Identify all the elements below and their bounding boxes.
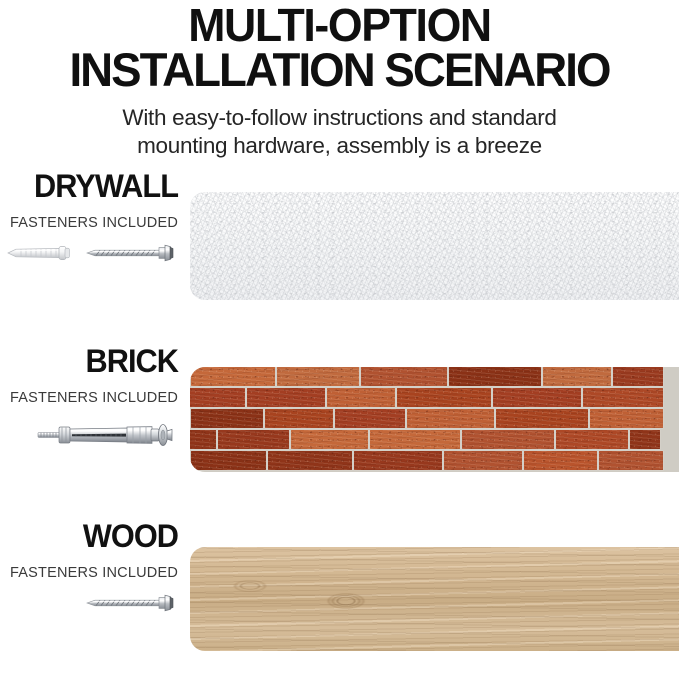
- fasteners-included-label-brick: FASTENERS INCLUDED: [0, 390, 178, 406]
- brick-unit: [246, 387, 326, 408]
- brick-unit: [523, 450, 598, 471]
- brick-labels: BRICK FASTENERS INCLUDED: [0, 345, 178, 452]
- drywall-screw-icon: [84, 243, 176, 263]
- material-name-drywall: DRYWALL: [7, 170, 178, 202]
- material-name-brick: BRICK: [7, 345, 178, 377]
- drywall-texture-swatch: [190, 192, 679, 300]
- brick-unit: [190, 450, 267, 471]
- brick-unit: [190, 387, 246, 408]
- brick-unit: [267, 450, 353, 471]
- brick-unit: [334, 408, 406, 429]
- brick-unit: [369, 429, 461, 450]
- brick-unit: [360, 367, 448, 387]
- plastic-wall-anchor-icon: [2, 243, 78, 263]
- material-row-drywall: DRYWALL FASTENERS INCLUDED: [0, 170, 679, 345]
- drywall-labels: DRYWALL FASTENERS INCLUDED: [0, 170, 178, 263]
- brick-unit: [443, 450, 523, 471]
- wood-fastener-group: [0, 593, 178, 613]
- brick-unit: [492, 387, 582, 408]
- page-title: MULTI-OPTION INSTALLATION SCENARIO: [10, 4, 669, 92]
- wood-texture-swatch: [190, 547, 679, 651]
- wood-labels: WOOD FASTENERS INCLUDED: [0, 520, 178, 613]
- brick-unit: [326, 387, 396, 408]
- brick-unit: [555, 429, 629, 450]
- brick-course: [190, 450, 679, 471]
- material-row-wood: WOOD FASTENERS INCLUDED: [0, 520, 679, 695]
- brick-unit: [406, 408, 495, 429]
- header: MULTI-OPTION INSTALLATION SCENARIO With …: [0, 0, 679, 160]
- brick-course: [190, 387, 679, 408]
- brick-unit: [290, 429, 369, 450]
- brick-unit: [598, 450, 664, 471]
- wood-grain-knot-primary: [307, 584, 385, 618]
- brick-texture-swatch: [190, 367, 679, 472]
- brick-course: [190, 429, 679, 450]
- brick-unit: [495, 408, 589, 429]
- metal-sleeve-anchor-icon: [36, 418, 176, 452]
- brick-unit: [589, 408, 664, 429]
- drywall-fastener-group: [0, 243, 178, 263]
- brick-course: [190, 408, 679, 429]
- brick-unit: [217, 429, 290, 450]
- brick-unit: [190, 408, 264, 429]
- subheadline-line-2: mounting hardware, assembly is a breeze: [40, 132, 640, 160]
- brick-pattern: [190, 367, 679, 472]
- brick-unit: [264, 408, 334, 429]
- fasteners-included-label-wood: FASTENERS INCLUDED: [0, 565, 178, 581]
- brick-unit: [353, 450, 443, 471]
- brick-unit: [629, 429, 661, 450]
- fasteners-included-label-drywall: FASTENERS INCLUDED: [0, 215, 178, 231]
- brick-unit: [396, 387, 492, 408]
- brick-unit: [461, 429, 555, 450]
- brick-unit: [190, 367, 276, 387]
- subheadline-line-1: With easy-to-follow instructions and sta…: [40, 104, 640, 132]
- wood-grain-knot-secondary: [219, 574, 281, 598]
- brick-unit: [612, 367, 664, 387]
- brick-unit: [190, 429, 217, 450]
- brick-unit: [448, 367, 542, 387]
- headline-line-1: MULTI-OPTION: [16, 4, 663, 48]
- material-row-brick: BRICK FASTENERS INCLUDED: [0, 345, 679, 520]
- brick-course: [190, 367, 679, 387]
- headline-line-2: INSTALLATION SCENARIO: [16, 48, 663, 93]
- material-name-wood: WOOD: [7, 520, 178, 552]
- wood-screw-icon: [84, 593, 176, 613]
- brick-unit: [542, 367, 612, 387]
- brick-fastener-group: [0, 418, 178, 452]
- material-rows: DRYWALL FASTENERS INCLUDED: [0, 170, 679, 695]
- brick-unit: [276, 367, 360, 387]
- subheadline: With easy-to-follow instructions and sta…: [40, 104, 640, 160]
- brick-unit: [582, 387, 664, 408]
